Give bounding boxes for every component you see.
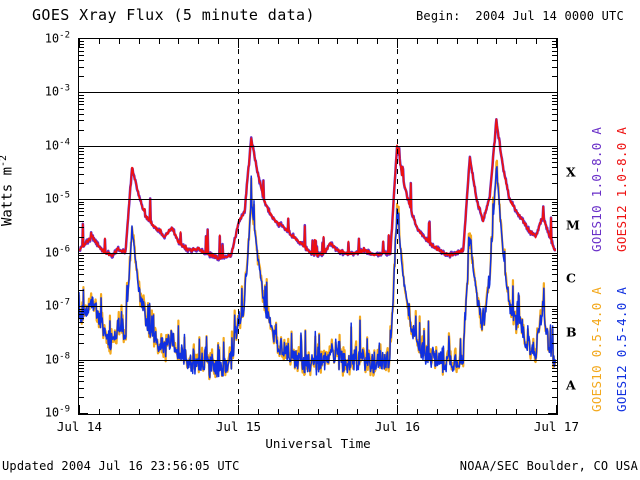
axis-tick	[79, 120, 84, 121]
axis-tick	[548, 253, 557, 254]
axis-tick	[79, 322, 84, 323]
axis-tick	[79, 204, 84, 205]
flare-class-A: A	[566, 378, 576, 393]
axis-tick	[79, 265, 84, 266]
axis-tick	[552, 51, 557, 52]
plot-clip	[79, 39, 557, 414]
axis-tick	[357, 39, 358, 44]
axis-tick	[548, 199, 557, 200]
x-tick-label: Jul 17	[534, 419, 579, 434]
axis-tick	[552, 227, 557, 228]
axis-tick	[159, 39, 160, 44]
axis-tick	[552, 311, 557, 312]
axis-tick	[552, 237, 557, 238]
axis-tick	[79, 327, 84, 328]
axis-tick	[417, 39, 418, 44]
axis-tick	[178, 409, 179, 414]
legend-goes10-short: GOES10 0.5-4.0 A	[589, 287, 604, 412]
axis-tick	[552, 114, 557, 115]
axis-tick	[79, 397, 84, 398]
axis-tick	[548, 92, 557, 93]
axis-tick	[552, 255, 557, 256]
axis-tick	[139, 39, 140, 44]
axis-tick	[79, 92, 88, 93]
axis-tick	[552, 158, 557, 159]
axis-tick	[79, 258, 84, 259]
flare-class-X: X	[566, 164, 576, 179]
axis-tick	[318, 409, 319, 414]
axis-tick	[548, 360, 557, 361]
axis-tick	[79, 101, 84, 102]
day-boundary-line	[397, 39, 398, 414]
axis-tick	[79, 371, 84, 372]
axis-tick	[79, 362, 84, 363]
x-tick-label: Jul 16	[375, 419, 420, 434]
axis-tick	[552, 211, 557, 212]
axis-tick	[258, 39, 259, 44]
axis-tick	[79, 376, 84, 377]
axis-tick	[238, 405, 239, 414]
axis-tick	[79, 154, 84, 155]
axis-tick	[79, 365, 84, 366]
axis-tick	[417, 409, 418, 414]
legend-goes12-long: GOES12 1.0-8.0 A	[614, 127, 629, 252]
axis-tick	[552, 167, 557, 168]
axis-tick	[79, 255, 84, 256]
axis-tick	[119, 39, 120, 44]
curve-goes10-long	[79, 119, 555, 260]
x-tick-label: Jul 14	[57, 419, 102, 434]
data-curves	[79, 39, 556, 413]
updated-timestamp: Updated 2004 Jul 16 23:56:05 UTC	[2, 459, 240, 473]
day-boundary-line	[238, 39, 239, 414]
axis-tick	[552, 309, 557, 310]
axis-tick	[552, 368, 557, 369]
gridline-decade	[79, 306, 557, 307]
axis-tick	[552, 215, 557, 216]
axis-tick	[552, 327, 557, 328]
axis-tick	[516, 39, 517, 44]
axis-tick	[99, 39, 100, 44]
gridline-decade	[79, 253, 557, 254]
y-tick-label: 10-5	[0, 191, 70, 206]
y-tick-label: 10-4	[0, 137, 70, 152]
axis-tick	[357, 409, 358, 414]
axis-tick	[79, 413, 88, 414]
y-tick-label: 10-6	[0, 244, 70, 259]
axis-tick	[79, 114, 84, 115]
axis-tick	[552, 343, 557, 344]
axis-tick	[218, 409, 219, 414]
legend-goes10-long: GOES10 1.0-8.0 A	[589, 127, 604, 252]
axis-tick	[552, 221, 557, 222]
axis-tick	[548, 306, 557, 307]
axis-tick	[457, 39, 458, 44]
axis-tick	[552, 148, 557, 149]
axis-tick	[552, 365, 557, 366]
axis-tick	[79, 174, 84, 175]
axis-tick	[552, 202, 557, 203]
axis-tick	[552, 290, 557, 291]
axis-tick	[198, 39, 199, 44]
curve-goes12-long	[79, 119, 555, 259]
axis-tick	[556, 405, 557, 414]
axis-tick	[552, 120, 557, 121]
axis-tick	[536, 409, 537, 414]
axis-tick	[318, 39, 319, 44]
axis-tick	[552, 98, 557, 99]
axis-tick	[552, 274, 557, 275]
axis-tick	[79, 269, 84, 270]
axis-tick	[79, 202, 84, 203]
credit-label: NOAA/SEC Boulder, CO USA	[460, 459, 638, 473]
x-axis-title: Universal Time	[265, 436, 370, 451]
axis-tick	[552, 95, 557, 96]
axis-tick	[79, 55, 84, 56]
axis-tick	[159, 409, 160, 414]
axis-tick	[79, 318, 84, 319]
axis-tick	[79, 183, 84, 184]
axis-tick	[79, 39, 80, 48]
axis-tick	[79, 67, 84, 68]
axis-tick	[218, 39, 219, 44]
flare-class-C: C	[566, 271, 576, 286]
axis-tick	[79, 281, 84, 282]
axis-tick	[556, 39, 557, 48]
axis-tick	[552, 269, 557, 270]
axis-tick	[79, 130, 84, 131]
begin-time-label: Begin: 2004 Jul 14 0000 UTC	[416, 9, 624, 23]
axis-tick	[79, 148, 84, 149]
axis-tick	[552, 397, 557, 398]
axis-tick	[278, 39, 279, 44]
axis-tick	[79, 306, 88, 307]
axis-tick	[552, 334, 557, 335]
axis-tick	[79, 227, 84, 228]
axis-tick	[79, 221, 84, 222]
axis-tick	[79, 314, 84, 315]
axis-tick	[79, 98, 84, 99]
gridline-decade	[79, 360, 557, 361]
y-tick-label: 10-2	[0, 31, 70, 46]
axis-tick	[552, 154, 557, 155]
axis-tick	[79, 343, 84, 344]
flare-class-M: M	[566, 218, 580, 233]
axis-tick	[552, 67, 557, 68]
axis-tick	[79, 211, 84, 212]
axis-tick	[79, 151, 84, 152]
axis-tick	[79, 368, 84, 369]
legend-goes12-short: GOES12 0.5-4.0 A	[614, 287, 629, 412]
axis-tick	[552, 208, 557, 209]
axis-tick	[79, 167, 84, 168]
axis-tick	[79, 388, 84, 389]
curve-goes10-short	[79, 161, 555, 379]
axis-tick	[552, 162, 557, 163]
flare-class-B: B	[566, 324, 577, 339]
axis-tick	[397, 405, 398, 414]
axis-tick	[79, 309, 84, 310]
axis-tick	[119, 409, 120, 414]
axis-tick	[337, 39, 338, 44]
gridline-decade	[79, 146, 557, 147]
axis-tick	[552, 362, 557, 363]
axis-tick	[79, 146, 88, 147]
axis-tick	[496, 39, 497, 44]
axis-tick	[552, 174, 557, 175]
axis-tick	[79, 253, 88, 254]
axis-tick	[437, 409, 438, 414]
axis-tick	[79, 158, 84, 159]
axis-tick	[79, 237, 84, 238]
axis-tick	[552, 322, 557, 323]
axis-tick	[79, 405, 80, 414]
axis-tick	[139, 409, 140, 414]
axis-tick	[79, 274, 84, 275]
axis-tick	[552, 101, 557, 102]
axis-tick	[377, 39, 378, 44]
axis-tick	[477, 39, 478, 44]
axis-tick	[238, 39, 239, 48]
axis-tick	[79, 51, 84, 52]
axis-tick	[258, 409, 259, 414]
axis-tick	[79, 311, 84, 312]
axis-tick	[298, 39, 299, 44]
axis-tick	[552, 314, 557, 315]
axis-tick	[552, 281, 557, 282]
y-tick-label: 10-7	[0, 298, 70, 313]
axis-tick	[397, 39, 398, 48]
axis-tick	[477, 409, 478, 414]
axis-tick	[516, 409, 517, 414]
axis-tick	[377, 409, 378, 414]
axis-tick	[552, 204, 557, 205]
x-tick-label: Jul 15	[216, 419, 261, 434]
axis-tick	[79, 261, 84, 262]
axis-tick	[552, 104, 557, 105]
chart-title: GOES Xray Flux (5 minute data)	[32, 6, 315, 24]
gridline-decade	[79, 92, 557, 93]
y-tick-label: 10-9	[0, 405, 70, 420]
axis-tick	[552, 388, 557, 389]
axis-tick	[79, 162, 84, 163]
axis-tick	[552, 109, 557, 110]
axis-tick	[79, 334, 84, 335]
axis-tick	[552, 151, 557, 152]
axis-tick	[198, 409, 199, 414]
axis-tick	[79, 104, 84, 105]
axis-tick	[552, 376, 557, 377]
axis-tick	[337, 409, 338, 414]
axis-tick	[278, 409, 279, 414]
axis-tick	[79, 381, 84, 382]
axis-tick	[552, 261, 557, 262]
axis-tick	[79, 290, 84, 291]
axis-tick	[552, 76, 557, 77]
gridline-decade	[79, 199, 557, 200]
axis-tick	[79, 95, 84, 96]
axis-tick	[298, 409, 299, 414]
axis-tick	[552, 130, 557, 131]
axis-tick	[552, 60, 557, 61]
axis-tick	[79, 208, 84, 209]
y-tick-label: 10-8	[0, 351, 70, 366]
axis-tick	[79, 199, 88, 200]
axis-tick	[99, 409, 100, 414]
axis-tick	[552, 258, 557, 259]
axis-tick	[552, 183, 557, 184]
axis-tick	[178, 39, 179, 44]
axis-tick	[548, 146, 557, 147]
axis-tick	[496, 409, 497, 414]
axis-tick	[552, 55, 557, 56]
axis-tick	[552, 381, 557, 382]
axis-tick	[552, 371, 557, 372]
axis-tick	[79, 76, 84, 77]
plot-area	[78, 38, 558, 415]
y-tick-label: 10-3	[0, 84, 70, 99]
axis-tick	[536, 39, 537, 44]
axis-tick	[552, 318, 557, 319]
axis-tick	[79, 109, 84, 110]
axis-tick	[437, 39, 438, 44]
axis-tick	[79, 60, 84, 61]
axis-tick	[79, 360, 88, 361]
axis-tick	[457, 409, 458, 414]
axis-tick	[79, 215, 84, 216]
axis-tick	[552, 265, 557, 266]
